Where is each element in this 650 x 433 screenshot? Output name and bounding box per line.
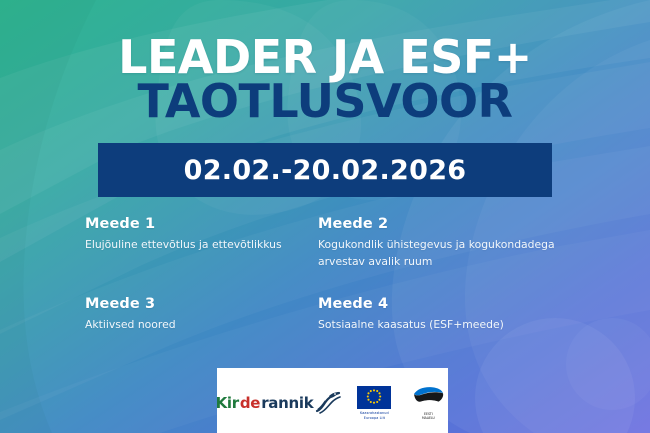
estonia-flag-swoosh-icon: [410, 385, 446, 411]
logo-footer-bar: Kirderannik: [217, 368, 448, 433]
measure-title: Meede 4: [318, 296, 575, 312]
kirderannik-text-red: de: [240, 394, 260, 412]
eu-caption-line-2: Euroopa Liit: [353, 416, 395, 420]
estonia-caption-line-2: MAAELU: [407, 417, 449, 421]
poster-headline: LEADER JA ESF+ TAOTLUSVOOR: [0, 36, 650, 123]
measure-item-2: Meede 2 Kogukondlik ühistegevus ja koguk…: [318, 216, 575, 270]
measure-item-4: Meede 4 Sotsiaalne kaasatus (ESF+meede): [318, 296, 575, 334]
measure-description: Sotsiaalne kaasatus (ESF+meede): [318, 317, 575, 334]
date-banner: 02.02.-20.02.2026: [98, 143, 552, 197]
measure-title: Meede 1: [85, 216, 318, 232]
date-range-text: 02.02.-20.02.2026: [184, 155, 467, 186]
estonia-logo: EESTI MAAELU: [407, 385, 449, 421]
measure-description: Kogukondlik ühistegevus ja kogukondadega…: [318, 237, 575, 270]
eu-caption: Kaasrahastanud Euroopa Liit: [353, 411, 395, 420]
measure-item-1: Meede 1 Elujõuline ettevõtlus ja ettevõt…: [85, 216, 318, 270]
kirderannik-logo: Kirderannik: [216, 390, 342, 416]
kirderannik-text-green: Kir: [216, 394, 239, 412]
measure-description: Elujõuline ettevõtlus ja ettevõtlikkus: [85, 237, 318, 254]
headline-line-1: LEADER JA ESF+: [0, 36, 650, 78]
headline-line-2: TAOTLUSVOOR: [0, 80, 650, 122]
promotional-poster: LEADER JA ESF+ TAOTLUSVOOR 02.02.-20.02.…: [0, 0, 650, 433]
kirderannik-wave-bird-icon: [315, 390, 341, 416]
measure-item-3: Meede 3 Aktiivsed noored: [85, 296, 318, 334]
measure-description: Aktiivsed noored: [85, 317, 318, 334]
measure-title: Meede 2: [318, 216, 575, 232]
eu-flag-icon: [357, 386, 391, 409]
eu-funding-logo: Kaasrahastanud Euroopa Liit: [353, 386, 395, 420]
measure-title: Meede 3: [85, 296, 318, 312]
kirderannik-text-navy: rannik: [261, 394, 313, 412]
measures-grid: Meede 1 Elujõuline ettevõtlus ja ettevõt…: [85, 216, 575, 334]
estonia-caption: EESTI MAAELU: [407, 413, 449, 421]
